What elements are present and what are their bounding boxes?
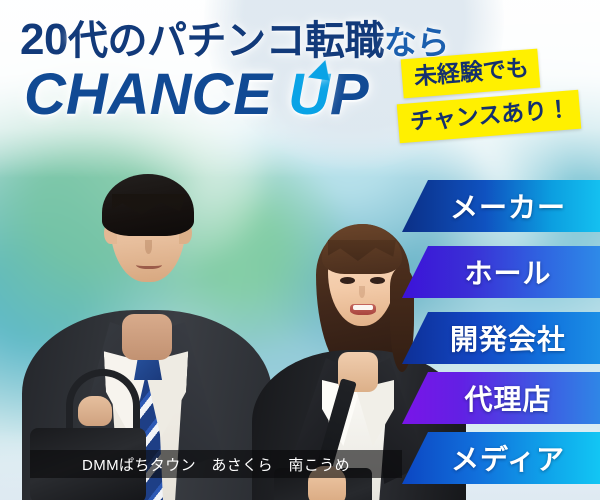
category-bar-developer[interactable]: 開発会社 xyxy=(402,312,600,364)
headline: 20代のパチンコ転職なら xyxy=(20,16,449,64)
female-eye-right xyxy=(370,277,385,284)
chance-up-logo: CHANCEUP xyxy=(24,66,369,124)
category-label: 代理店 xyxy=(450,378,551,418)
category-label: メディア xyxy=(437,438,565,478)
badge-line-2: チャンスあり！ xyxy=(397,90,582,143)
female-teeth xyxy=(353,305,373,310)
category-bar-media[interactable]: メディア xyxy=(402,432,600,484)
male-neck xyxy=(122,314,172,360)
category-bar-agency[interactable]: 代理店 xyxy=(402,372,600,424)
female-nose xyxy=(359,286,365,298)
category-bar-hall[interactable]: ホール xyxy=(402,246,600,298)
male-hand xyxy=(78,396,112,426)
headline-number: 20 xyxy=(20,15,68,64)
badge-line-1: 未経験でも xyxy=(401,49,541,99)
male-mouth xyxy=(136,260,162,269)
headline-main: 代のパチンコ転職 xyxy=(68,19,384,63)
category-bar-maker[interactable]: メーカー xyxy=(402,180,600,232)
logo-chance-text: CHANCE xyxy=(24,62,272,127)
female-eye-left xyxy=(340,277,355,284)
category-label: ホール xyxy=(450,252,551,292)
category-label: 開発会社 xyxy=(436,318,566,358)
logo-p-text: P xyxy=(330,62,369,127)
category-label: メーカー xyxy=(436,186,566,226)
logo-u-letter: U xyxy=(288,66,330,124)
male-nose xyxy=(145,240,152,254)
inexperience-badge: 未経験でも チャンスあり！ xyxy=(398,54,594,136)
promo-banner[interactable]: 20代のパチンコ転職なら CHANCEUP 未経験でも チャンスあり！ メーカー… xyxy=(0,0,600,500)
credit-strip: DMMぱちタウン あさくら 南こうめ xyxy=(30,450,402,478)
credit-text: DMMぱちタウン あさくら 南こうめ xyxy=(82,454,350,475)
